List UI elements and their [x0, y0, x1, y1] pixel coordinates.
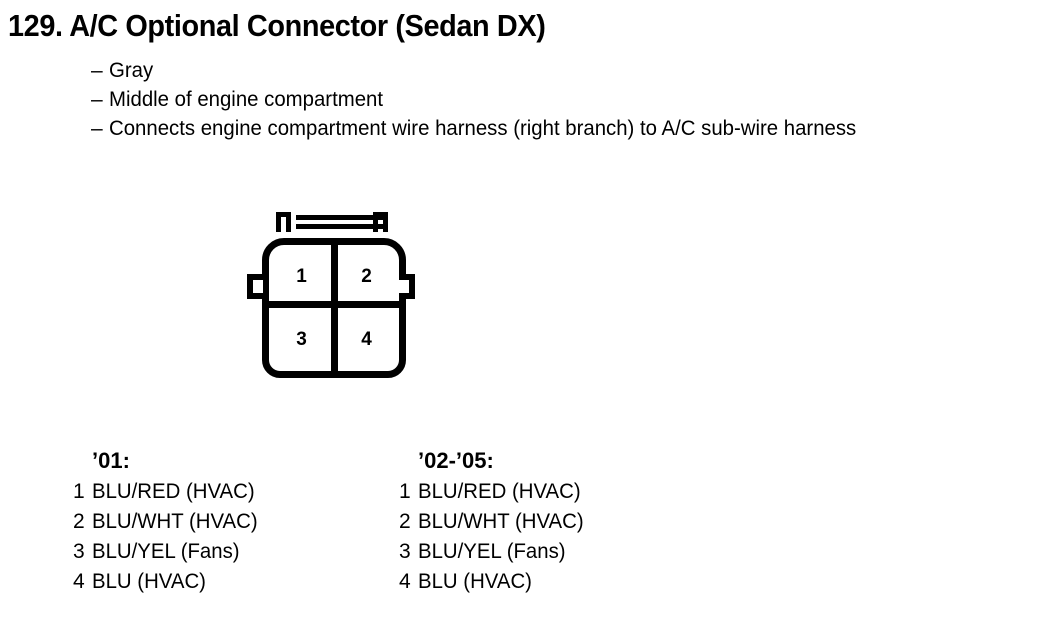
legend-row: 1 BLU/RED (HVAC) [399, 480, 589, 510]
spec-item: – Connects engine compartment wire harne… [91, 117, 879, 146]
legend-wire-label: BLU/YEL (Fans) [418, 540, 566, 564]
legend-pin-number: 2 [73, 510, 92, 534]
legend-pin-number: 4 [399, 570, 418, 594]
specification-list: – Gray – Middle of engine compartment – … [91, 59, 879, 146]
legend-wire-label: BLU/RED (HVAC) [92, 480, 255, 504]
legend-heading: ’01: [92, 448, 263, 480]
legend-pin-number: 3 [399, 540, 418, 564]
legend-row: 4 BLU (HVAC) [73, 570, 263, 600]
cavity-3-number: 3 [296, 329, 307, 351]
legend-row: 3 BLU/YEL (Fans) [399, 540, 589, 570]
cavity-2-number: 2 [361, 266, 372, 288]
legend-row: 4 BLU (HVAC) [399, 570, 589, 600]
legend-wire-label: BLU/WHT (HVAC) [92, 510, 258, 534]
spec-item: – Middle of engine compartment [91, 88, 879, 117]
legend-column-01: ’01: 1 BLU/RED (HVAC) 2 BLU/WHT (HVAC) 3… [73, 448, 263, 600]
connector-diagram: 1 2 3 4 [240, 212, 436, 388]
locking-tab-left-slot-icon [253, 280, 263, 293]
cavity-2: 2 [334, 245, 399, 308]
dash-bullet-icon: – [91, 117, 109, 141]
latch-bar-icon [296, 215, 384, 229]
cavity-3: 3 [269, 308, 334, 371]
locking-tab-right-icon [399, 274, 415, 299]
cavity-1: 1 [269, 245, 334, 308]
legend-wire-label: BLU/WHT (HVAC) [418, 510, 584, 534]
page-title: 129. A/C Optional Connector (Sedan DX) [8, 8, 545, 44]
legend-wire-label: BLU/YEL (Fans) [92, 540, 240, 564]
cavity-4-number: 4 [361, 329, 372, 351]
legend-heading: ’02-’05: [418, 448, 589, 480]
legend-row: 1 BLU/RED (HVAC) [73, 480, 263, 510]
legend-row: 2 BLU/WHT (HVAC) [399, 510, 589, 540]
spec-item-label: Connects engine compartment wire harness… [109, 117, 856, 141]
dash-bullet-icon: – [91, 88, 109, 112]
legend-pin-number: 2 [399, 510, 418, 534]
dash-bullet-icon: – [91, 59, 109, 83]
locking-tab-left-icon [247, 274, 263, 299]
legend-row: 3 BLU/YEL (Fans) [73, 540, 263, 570]
legend-row: 2 BLU/WHT (HVAC) [73, 510, 263, 540]
latch-post-left-icon [276, 212, 291, 232]
cavity-grid: 1 2 3 4 [269, 245, 399, 371]
legend-wire-label: BLU (HVAC) [92, 570, 206, 594]
legend-pin-number: 1 [399, 480, 418, 504]
spec-item-label: Gray [109, 59, 153, 83]
legend-pin-number: 1 [73, 480, 92, 504]
spec-item-label: Middle of engine compartment [109, 88, 383, 112]
legend-pin-number: 3 [73, 540, 92, 564]
legend-wire-label: BLU/RED (HVAC) [418, 480, 581, 504]
locking-tab-right-slot-icon [399, 280, 409, 293]
cavity-1-number: 1 [296, 266, 307, 288]
legend-pin-number: 4 [73, 570, 92, 594]
legend-column-02-05: ’02-’05: 1 BLU/RED (HVAC) 2 BLU/WHT (HVA… [399, 448, 589, 600]
spec-item: – Gray [91, 59, 879, 88]
legend-wire-label: BLU (HVAC) [418, 570, 532, 594]
cavity-4: 4 [334, 308, 399, 371]
